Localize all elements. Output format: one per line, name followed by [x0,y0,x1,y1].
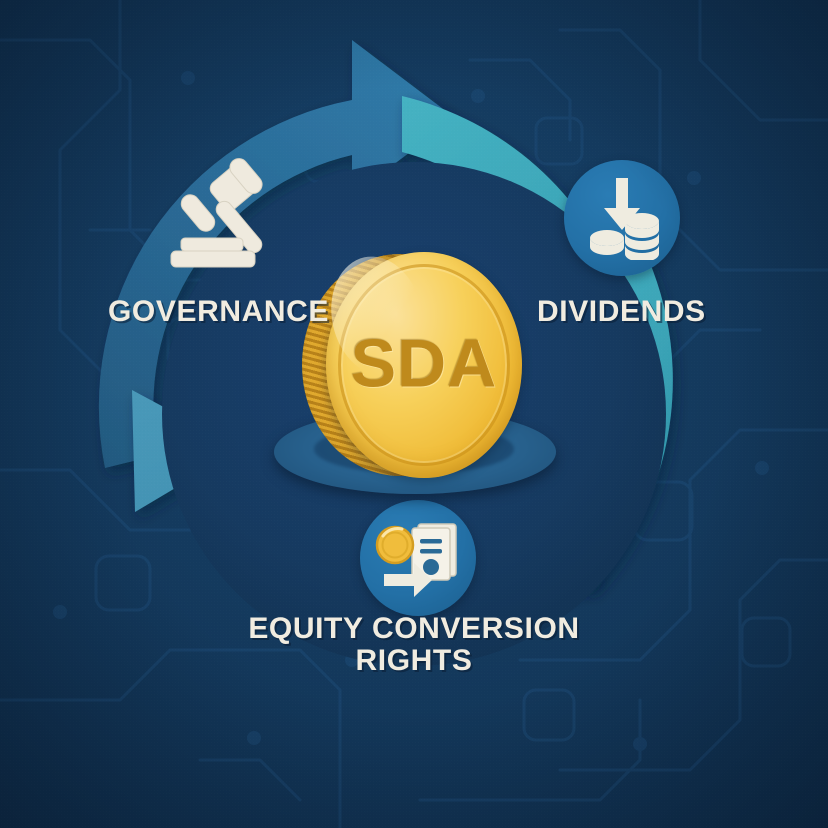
label-equity-line2: RIGHTS [0,645,828,677]
label-equity-conversion-rights: EQUITY CONVERSION RIGHTS [0,613,828,678]
label-dividends: DIVIDENDS [537,296,706,328]
coin-to-certificate-icon [374,518,462,598]
sda-coin: SDA [296,248,532,484]
dividends-icon-badge [564,160,680,276]
label-equity-line1: EQUITY CONVERSION [248,612,579,645]
equity-conversion-icon-badge [360,500,476,616]
label-governance: GOVERNANCE [108,296,329,328]
coin-face: SDA [326,252,522,478]
gavel-icon [165,150,295,272]
coins-down-arrow-icon [580,176,664,260]
coin-ticker-text: SDA [326,324,522,402]
infographic-canvas: SDA GOVERNANCE DIVIDENDS EQUITY CONVERSI… [0,0,828,828]
